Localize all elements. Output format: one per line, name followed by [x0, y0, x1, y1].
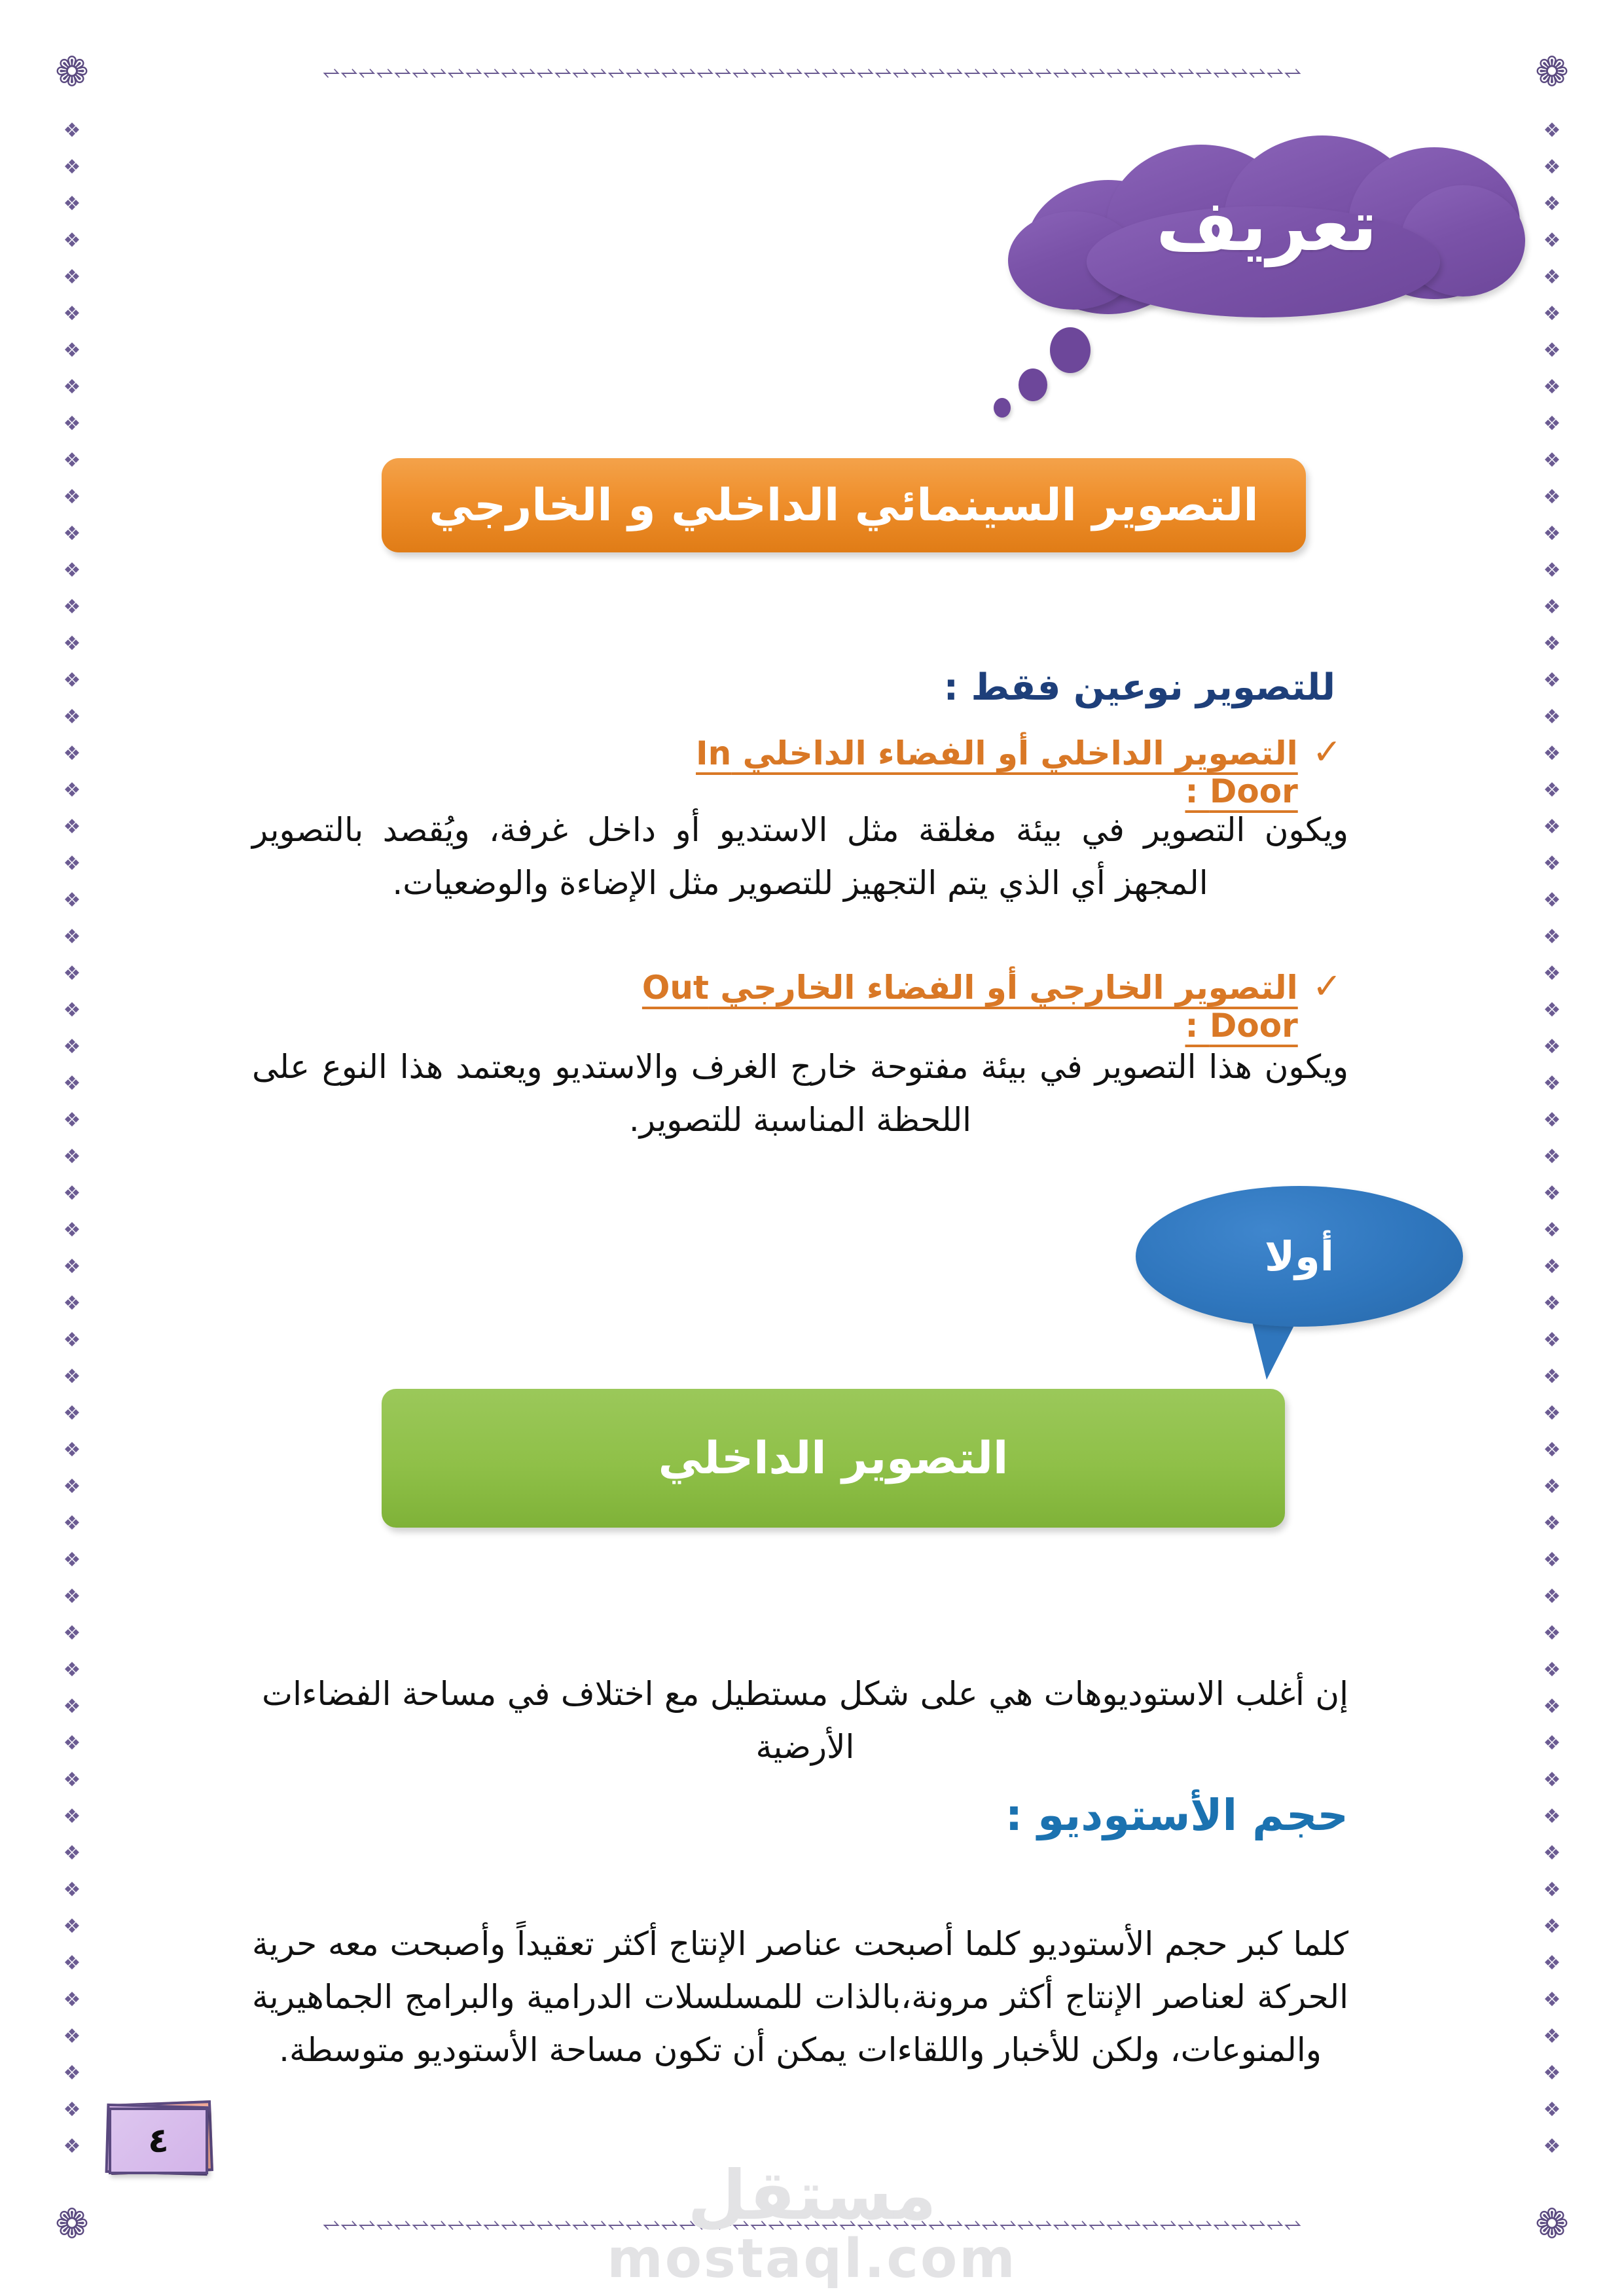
- watermark-arabic: مستقل: [0, 2160, 1624, 2231]
- check-icon: ✓: [1312, 734, 1342, 770]
- border-top-ornament: ⥋⥋⥋⥋⥋⥋⥋⥋⥋⥋⥋⥋⥋⥋⥋⥋⥋⥋⥋⥋⥋⥋⥋⥋⥋⥋⥋⥋⥋⥋⥋⥋⥋⥋⥋⥋⥋⥋⥋⥋…: [113, 58, 1511, 86]
- heading-studio-size: حجم الأستوديو :: [910, 1790, 1348, 1840]
- badge-card-front: ٤: [109, 2108, 208, 2174]
- paragraph-studio-intro: إن أغلب الاستوديوهات هي على شكل مستطيل م…: [262, 1668, 1348, 1774]
- banner-orange-title: التصوير السينمائي الداخلي و الخارجي: [382, 458, 1306, 552]
- decorative-border-frame: ⥋⥋⥋⥋⥋⥋⥋⥋⥋⥋⥋⥋⥋⥋⥋⥋⥋⥋⥋⥋⥋⥋⥋⥋⥋⥋⥋⥋⥋⥋⥋⥋⥋⥋⥋⥋⥋⥋⥋⥋…: [72, 72, 1552, 2224]
- page-number: ٤: [148, 2124, 169, 2158]
- bullet-item-indoor: ✓ التصوير الداخلي أو الفضاء الداخلي In D…: [615, 734, 1342, 810]
- corner-ornament-bottom-left-icon: ❁: [42, 2194, 102, 2254]
- thought-bubble-dot-small: [994, 398, 1011, 418]
- watermark: مستقل mostaql.com: [0, 2160, 1624, 2287]
- cloud-title: تعريف: [1008, 134, 1525, 317]
- corner-ornament-top-right-icon: ❁: [1522, 42, 1582, 102]
- corner-ornament-bottom-right-icon: ❁: [1522, 2194, 1582, 2254]
- thought-cloud-definition: تعريف: [1008, 134, 1525, 317]
- border-right-ornament: ❖❖❖❖❖❖❖❖❖❖❖❖❖❖❖❖❖❖❖❖❖❖❖❖❖❖❖❖❖❖❖❖❖❖❖❖❖❖❖❖…: [1538, 113, 1566, 2183]
- page-number-badge: ٤: [105, 2100, 215, 2177]
- paragraph-studio-size: كلما كبر حجم الأستوديو كلما أصبحت عناصر …: [252, 1918, 1348, 2077]
- bullet-label-outdoor: التصوير الخارجي أو الفضاء الخارجي Out Do…: [619, 969, 1298, 1045]
- banner-green-title: التصوير الداخلي: [382, 1389, 1285, 1528]
- bullet-item-outdoor: ✓ التصوير الخارجي أو الفضاء الخارجي Out …: [619, 969, 1342, 1045]
- callout-first: أولا: [1136, 1186, 1463, 1327]
- thought-bubble-dot-medium: [1019, 368, 1047, 401]
- bullet-label-indoor: التصوير الداخلي أو الفضاء الداخلي In Doo…: [615, 734, 1298, 810]
- border-bottom-ornament: ⥋⥋⥋⥋⥋⥋⥋⥋⥋⥋⥋⥋⥋⥋⥋⥋⥋⥋⥋⥋⥋⥋⥋⥋⥋⥋⥋⥋⥋⥋⥋⥋⥋⥋⥋⥋⥋⥋⥋⥋…: [113, 2210, 1511, 2238]
- paragraph-outdoor: ويكون هذا التصوير في بيئة مفتوحة خارج ال…: [252, 1041, 1348, 1147]
- section-heading-types: للتصوير نوعين فقط :: [641, 666, 1335, 709]
- document-page: ⥋⥋⥋⥋⥋⥋⥋⥋⥋⥋⥋⥋⥋⥋⥋⥋⥋⥋⥋⥋⥋⥋⥋⥋⥋⥋⥋⥋⥋⥋⥋⥋⥋⥋⥋⥋⥋⥋⥋⥋…: [0, 0, 1624, 2296]
- border-left-ornament: ❖❖❖❖❖❖❖❖❖❖❖❖❖❖❖❖❖❖❖❖❖❖❖❖❖❖❖❖❖❖❖❖❖❖❖❖❖❖❖❖…: [58, 113, 86, 2183]
- thought-bubble-dot-large: [1050, 327, 1091, 373]
- watermark-latin: mostaql.com: [0, 2231, 1624, 2287]
- paragraph-indoor: ويكون التصوير في بيئة مغلقة مثل الاستديو…: [252, 804, 1348, 910]
- check-icon: ✓: [1312, 969, 1342, 1004]
- corner-ornament-top-left-icon: ❁: [42, 42, 102, 102]
